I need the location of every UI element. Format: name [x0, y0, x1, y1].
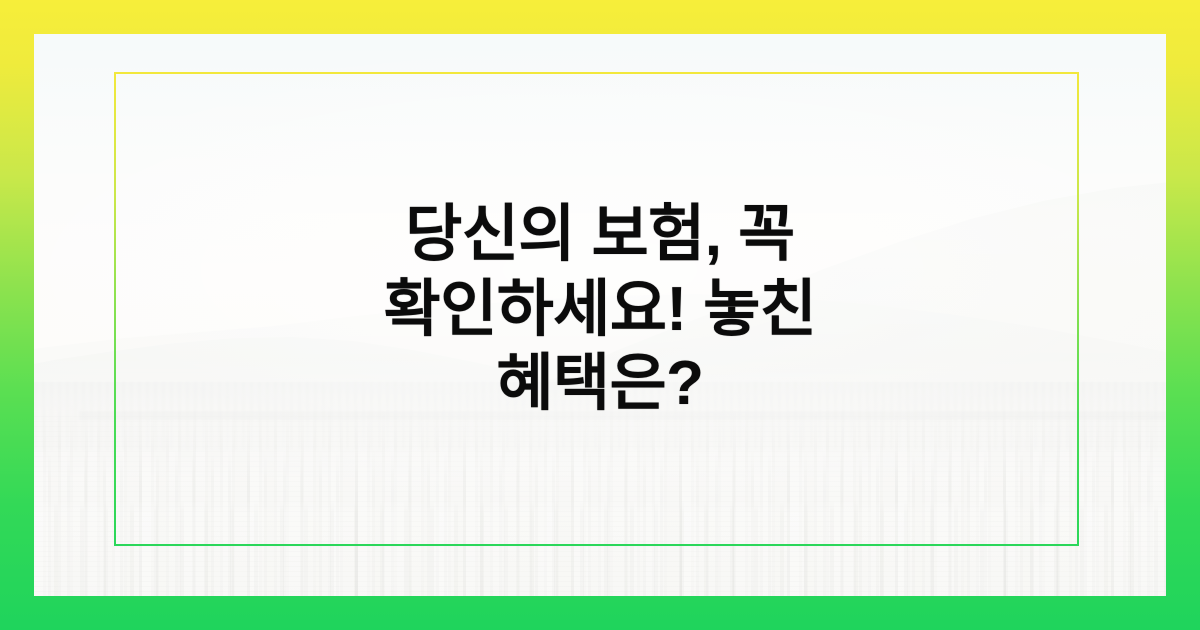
promo-card: 당신의 보험, 꼭 확인하세요! 놓친 혜택은?: [0, 0, 1200, 630]
headline-container: 당신의 보험, 꼭 확인하세요! 놓친 혜택은?: [34, 34, 1166, 596]
photo-stage: 당신의 보험, 꼭 확인하세요! 놓친 혜택은?: [34, 34, 1166, 596]
page-title: 당신의 보험, 꼭 확인하세요! 놓친 혜택은?: [320, 198, 880, 421]
